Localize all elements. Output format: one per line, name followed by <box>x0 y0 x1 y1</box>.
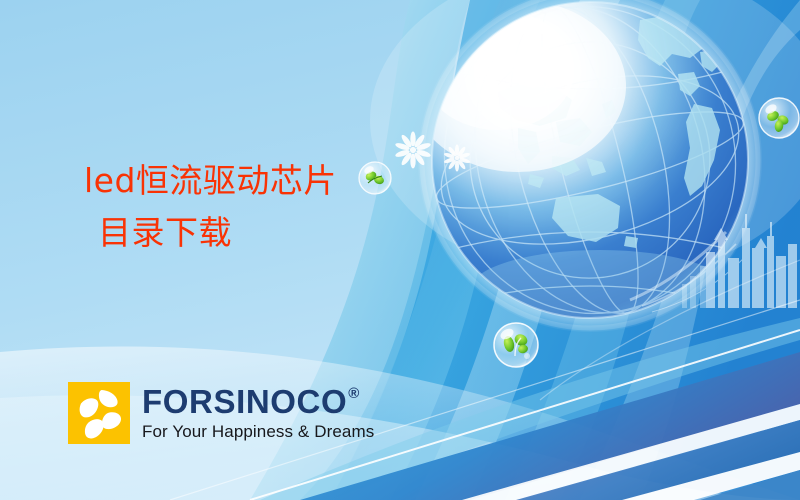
starburst-flower-large <box>395 132 432 169</box>
eco-bubble-medium <box>494 323 538 367</box>
forsinoco-pinwheel-mark <box>68 382 130 444</box>
eco-bubble-small <box>359 162 391 194</box>
company-logo: FORSINOCO® For Your Happiness & Dreams <box>68 382 374 444</box>
pinwheel-flower-icon <box>68 382 130 444</box>
promo-banner: led恒流驱动芯片 目录下载 FORSINOCO® For Your Happi… <box>0 0 800 500</box>
logo-tagline: For Your Happiness & Dreams <box>142 423 374 440</box>
logo-wordmark: FORSINOCO® <box>142 385 360 418</box>
logo-wordmark-text: FORSINOCO <box>142 385 347 418</box>
starburst-flower-small <box>443 144 470 171</box>
logo-text-block: FORSINOCO® For Your Happiness & Dreams <box>142 382 374 440</box>
eco-bubble-right <box>759 98 799 138</box>
registered-trademark-symbol: ® <box>348 386 360 401</box>
